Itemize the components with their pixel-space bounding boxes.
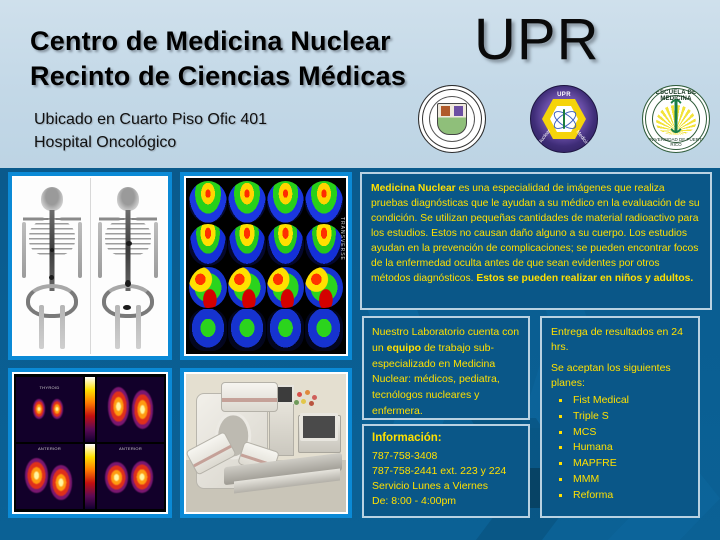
pet-slice [305, 181, 343, 223]
gamma-camera-spect-room-photo[interactable] [180, 368, 352, 518]
thyroid-lobe [132, 390, 153, 429]
thyroid-lobe [51, 399, 63, 419]
pet-slice [305, 309, 343, 351]
list-item: Triple S [557, 409, 689, 425]
bone-scintigraphy-scan[interactable] [8, 172, 172, 360]
image-frame: THYROID ANTERIOR ANTERIOR [12, 372, 168, 514]
pet-slice [305, 224, 343, 266]
description-bold-lead: Medicina Nuclear [371, 183, 456, 194]
pet-slice [228, 267, 266, 309]
pelvis-shape [26, 284, 78, 318]
pet-slice [228, 309, 266, 351]
service-days: Servicio Lunes a Viernes [372, 479, 520, 494]
contact-information-panel: Información: 787-758-3408 787-758-2441 e… [362, 424, 530, 518]
thyroid-scintigraphy-scan[interactable]: THYROID ANTERIOR ANTERIOR [8, 368, 172, 518]
description-body: es una especialidad de imágenes que real… [371, 183, 700, 284]
image-frame: TRANSVERSE [184, 176, 348, 356]
thyroid-lobe [33, 399, 45, 419]
thyroid-lobe [131, 461, 154, 494]
scan-room [186, 374, 346, 512]
info-panel-title: Información: [372, 432, 520, 444]
thyroid-view: ANTERIOR [16, 444, 83, 509]
location-subtitle: Ubicado en Cuarto Piso Ofic 401 Hospital… [34, 108, 267, 154]
escuela-de-medicina-seal: ESCUELA DE MEDICINA UNIVERSIDAD DE PUERT… [642, 85, 710, 153]
title-line-1: Centro de Medicina Nuclear [30, 26, 391, 56]
accepted-plans-list: Fist Medical Triple S MCS Humana MAPFRE … [551, 393, 689, 505]
pet-slice [228, 224, 266, 266]
skull-shape [41, 187, 63, 211]
seal-top-text: ESCUELA DE MEDICINA [643, 90, 709, 102]
seal-bottom-text: UNIVERSIDAD DE PUERTO RICO [643, 137, 709, 147]
leg-shape [136, 305, 141, 349]
arm-shape [78, 222, 82, 278]
accepted-plans-panel: Entrega de resultados en 24 hrs. Se acep… [540, 316, 700, 518]
seal-right-text: Medicine [574, 129, 591, 148]
serpent-icon [667, 99, 685, 133]
pet-slice-grid [186, 178, 346, 354]
pet-slice [189, 267, 227, 309]
list-item: Fist Medical [557, 393, 689, 409]
image-frame [184, 372, 348, 514]
arm-shape [22, 222, 26, 278]
seal-top-text: UPR [531, 92, 597, 98]
service-hours: De: 8:00 - 4:00pm [372, 494, 520, 509]
console-monitor-icon [300, 413, 338, 441]
brain-pet-axial-slices[interactable]: TRANSVERSE [180, 172, 352, 360]
pet-slice [267, 309, 305, 351]
nuclear-medicine-poster: Centro de Medicina Nuclear Recinto de Ci… [0, 0, 720, 540]
pelvis-shape [102, 284, 154, 318]
leg-shape [60, 305, 65, 349]
image-frame [12, 176, 168, 356]
description-bold-tail: Estos se pueden realizar en niños y adul… [476, 273, 693, 284]
laboratory-text: Nuestro Laboratorio cuenta con un equipo… [372, 325, 520, 420]
bone-scan-posterior-view [90, 178, 166, 354]
title-line-2: Recinto de Ciencias Médicas [30, 59, 406, 94]
bone-scan-anterior-view [14, 178, 91, 354]
upr-acronym: UPR [474, 6, 599, 73]
detector-stripe [222, 398, 276, 401]
detector-head [221, 382, 277, 412]
pet-slice [305, 267, 343, 309]
leg-shape [39, 305, 44, 349]
accepted-plans-lead: Se aceptan los siguientes planes: [551, 361, 689, 391]
skull-shape [117, 187, 139, 211]
thyroid-lobe [25, 458, 48, 493]
arm-shape [98, 222, 102, 278]
list-item: MAPFRE [557, 456, 689, 472]
thyroid-view: THYROID [16, 377, 83, 442]
uptake-focus [125, 280, 131, 287]
lab-text-bold: equipo [387, 342, 421, 354]
description-text: Medicina Nuclear es una especialidad de … [371, 181, 701, 286]
leg-shape [115, 305, 120, 349]
list-item: MMM [557, 472, 689, 488]
thyroid-lobe [108, 387, 129, 426]
thyroid-label: ANTERIOR [16, 446, 83, 451]
list-item: Humana [557, 440, 689, 456]
color-scale-bar [85, 377, 95, 442]
page-title: Centro de Medicina Nuclear Recinto de Ci… [30, 24, 406, 93]
pet-slice [189, 309, 227, 351]
subtitle-line-1: Ubicado en Cuarto Piso Ofic 401 [34, 108, 267, 131]
subtitle-line-2: Hospital Oncológico [34, 131, 267, 154]
seal-group: UPR Nuclear Medicine ESCUELA DE MEDICINA… [418, 85, 708, 155]
seal-shield-icon [437, 103, 467, 135]
thyroid-lobe [105, 462, 128, 493]
uptake-focus [123, 305, 131, 310]
thyroid-label: ANTERIOR [97, 446, 164, 451]
seal-left-text: Nuclear [537, 128, 552, 145]
thyroid-view: ANTERIOR [97, 444, 164, 509]
caduceus-rod-icon [563, 109, 565, 129]
pet-slice [189, 181, 227, 223]
pet-slice [228, 181, 266, 223]
poster-header: Centro de Medicina Nuclear Recinto de Ci… [0, 0, 720, 168]
list-item: Reforma [557, 488, 689, 504]
recinto-de-ciencias-medicas-seal [418, 85, 486, 153]
laboratory-team-panel: Nuestro Laboratorio cuenta con un equipo… [362, 316, 530, 420]
uptake-focus [49, 275, 54, 280]
arm-shape [154, 222, 158, 278]
thyroid-lobe [50, 465, 73, 500]
spine-shape [126, 210, 131, 291]
thyroid-panel-grid: THYROID ANTERIOR ANTERIOR [14, 374, 166, 512]
pet-slice [189, 224, 227, 266]
phone-number-primary[interactable]: 787-758-3408 [372, 449, 520, 464]
pet-slice [267, 224, 305, 266]
phone-number-secondary[interactable]: 787-758-2441 ext. 223 y 224 [372, 464, 520, 479]
upr-nuclear-medicine-seal: UPR Nuclear Medicine [530, 85, 598, 153]
list-item: MCS [557, 425, 689, 441]
pet-orientation-label: TRANSVERSE [339, 217, 345, 261]
thyroid-view [97, 377, 164, 442]
thyroid-label: THYROID [16, 385, 83, 390]
color-scale-bar [85, 444, 95, 509]
pet-slice [267, 181, 305, 223]
pet-slice [267, 267, 305, 309]
nuclear-medicine-description-panel: Medicina Nuclear es una especialidad de … [360, 172, 712, 310]
results-delivery-note: Entrega de resultados en 24 hrs. [551, 325, 689, 355]
